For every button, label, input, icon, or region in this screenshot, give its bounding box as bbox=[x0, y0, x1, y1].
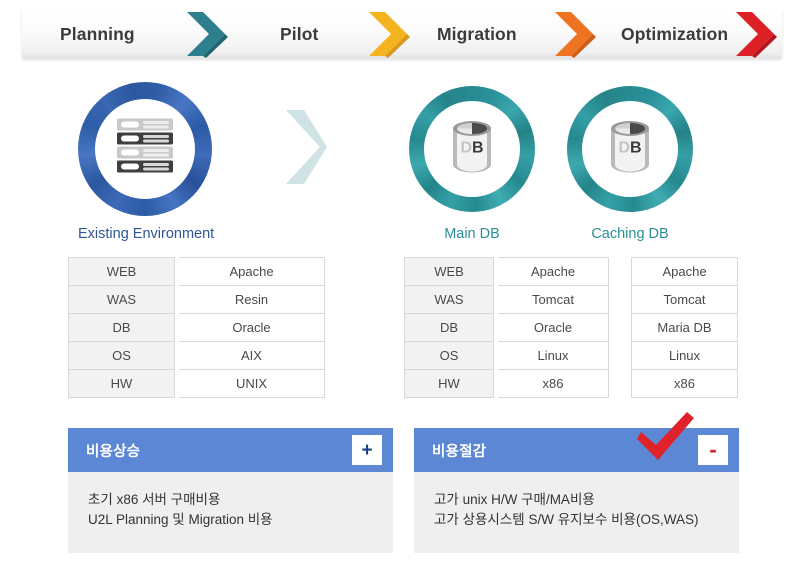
spec-value: Oracle bbox=[179, 314, 325, 342]
panel-title-cost-increase: 비용상승 bbox=[86, 440, 140, 461]
main-db-ring: DB bbox=[409, 86, 535, 212]
spec-value: Apache bbox=[631, 257, 738, 286]
spec-key: WAS bbox=[404, 286, 494, 314]
table-row: Tomcat bbox=[631, 286, 738, 314]
database-icon: DB bbox=[607, 121, 653, 178]
table-row: WAS Resin bbox=[68, 286, 325, 314]
spec-value: x86 bbox=[631, 370, 738, 398]
table-row: OS Linux bbox=[404, 342, 609, 370]
phase-banner: Planning Pilot Migration bbox=[22, 10, 782, 58]
table-row: DB Oracle bbox=[68, 314, 325, 342]
panel-cost-saving: 비용절감 - 고가 unix H/W 구매/MA비용 고가 상용시스템 S/W … bbox=[414, 428, 739, 553]
panel-line: 고가 unix H/W 구매/MA비용 bbox=[434, 490, 739, 510]
panel-cost-increase: 비용상승 + 초기 x86 서버 구매비용 U2L Planning 및 Mig… bbox=[68, 428, 393, 553]
spec-key: HW bbox=[404, 370, 494, 398]
table-row: Maria DB bbox=[631, 314, 738, 342]
spec-value: Apache bbox=[498, 257, 609, 286]
spec-key: WEB bbox=[404, 257, 494, 286]
spec-value: Linux bbox=[498, 342, 609, 370]
table-row: HW UNIX bbox=[68, 370, 325, 398]
spec-key: WEB bbox=[68, 257, 175, 286]
spec-value: Oracle bbox=[498, 314, 609, 342]
spec-key: HW bbox=[68, 370, 175, 398]
node-existing-environment: Existing Environment bbox=[78, 82, 212, 216]
spec-value: Maria DB bbox=[631, 314, 738, 342]
database-icon: DB bbox=[449, 121, 495, 178]
node-caption-existing-environment: Existing Environment bbox=[78, 226, 212, 242]
spec-key: OS bbox=[404, 342, 494, 370]
phase-label-migration: Migration bbox=[437, 10, 517, 58]
spec-table-existing-environment: WEB Apache WAS Resin DB Oracle OS AIX HW… bbox=[68, 257, 325, 398]
spec-key: DB bbox=[404, 314, 494, 342]
phase-label-planning: Planning bbox=[60, 10, 135, 58]
server-rack-icon bbox=[115, 118, 175, 181]
phase-label-pilot: Pilot bbox=[280, 10, 318, 58]
spec-value: Apache bbox=[179, 257, 325, 286]
spec-table-main-db: WEB Apache WAS Tomcat DB Oracle OS Linux… bbox=[404, 257, 609, 398]
spec-table-caching-db: Apache Tomcat Maria DB Linux x86 bbox=[631, 257, 738, 398]
phase-chevron-pilot-icon bbox=[369, 10, 415, 58]
flow-chevron-right-icon bbox=[282, 108, 330, 186]
panel-body-cost-increase: 초기 x86 서버 구매비용 U2L Planning 및 Migration … bbox=[68, 472, 393, 553]
check-mark-icon bbox=[635, 412, 697, 464]
table-row: DB Oracle bbox=[404, 314, 609, 342]
node-caching-db: DB Caching DB bbox=[567, 86, 693, 212]
table-row: OS AIX bbox=[68, 342, 325, 370]
spec-value: x86 bbox=[498, 370, 609, 398]
panel-line: 초기 x86 서버 구매비용 bbox=[88, 490, 393, 510]
table-row: x86 bbox=[631, 370, 738, 398]
phase-chevron-planning-icon bbox=[187, 10, 233, 58]
table-row: Apache bbox=[631, 257, 738, 286]
spec-value: Resin bbox=[179, 286, 325, 314]
table-row: WEB Apache bbox=[404, 257, 609, 286]
caching-db-ring: DB bbox=[567, 86, 693, 212]
spec-value: Linux bbox=[631, 342, 738, 370]
spec-key: OS bbox=[68, 342, 175, 370]
plus-icon[interactable]: + bbox=[352, 435, 382, 465]
node-caption-main-db: Main DB bbox=[409, 226, 535, 242]
panel-title-cost-saving: 비용절감 bbox=[432, 440, 486, 461]
existing-environment-ring bbox=[78, 82, 212, 216]
spec-value: Tomcat bbox=[631, 286, 738, 314]
panel-line: U2L Planning 및 Migration 비용 bbox=[88, 510, 393, 530]
svg-text:DB: DB bbox=[460, 140, 483, 157]
table-row: HW x86 bbox=[404, 370, 609, 398]
panel-line: 고가 상용시스템 S/W 유지보수 비용(OS,WAS) bbox=[434, 510, 739, 530]
panel-header-cost-saving: 비용절감 - bbox=[414, 428, 739, 472]
phase-chevron-migration-icon bbox=[555, 10, 601, 58]
table-row: WEB Apache bbox=[68, 257, 325, 286]
node-caption-caching-db: Caching DB bbox=[567, 226, 693, 242]
spec-value: Tomcat bbox=[498, 286, 609, 314]
minus-icon[interactable]: - bbox=[698, 435, 728, 465]
panel-body-cost-saving: 고가 unix H/W 구매/MA비용 고가 상용시스템 S/W 유지보수 비용… bbox=[414, 472, 739, 553]
phase-label-optimization: Optimization bbox=[621, 10, 728, 58]
spec-key: WAS bbox=[68, 286, 175, 314]
panel-header-cost-increase: 비용상승 + bbox=[68, 428, 393, 472]
spec-key: DB bbox=[68, 314, 175, 342]
svg-text:DB: DB bbox=[618, 140, 641, 157]
spec-value: AIX bbox=[179, 342, 325, 370]
phase-chevron-optimization-icon bbox=[736, 10, 782, 58]
node-main-db: DB Main DB bbox=[409, 86, 535, 212]
table-row: WAS Tomcat bbox=[404, 286, 609, 314]
spec-value: UNIX bbox=[179, 370, 325, 398]
diagram-canvas: Planning Pilot Migration bbox=[0, 0, 800, 566]
table-row: Linux bbox=[631, 342, 738, 370]
